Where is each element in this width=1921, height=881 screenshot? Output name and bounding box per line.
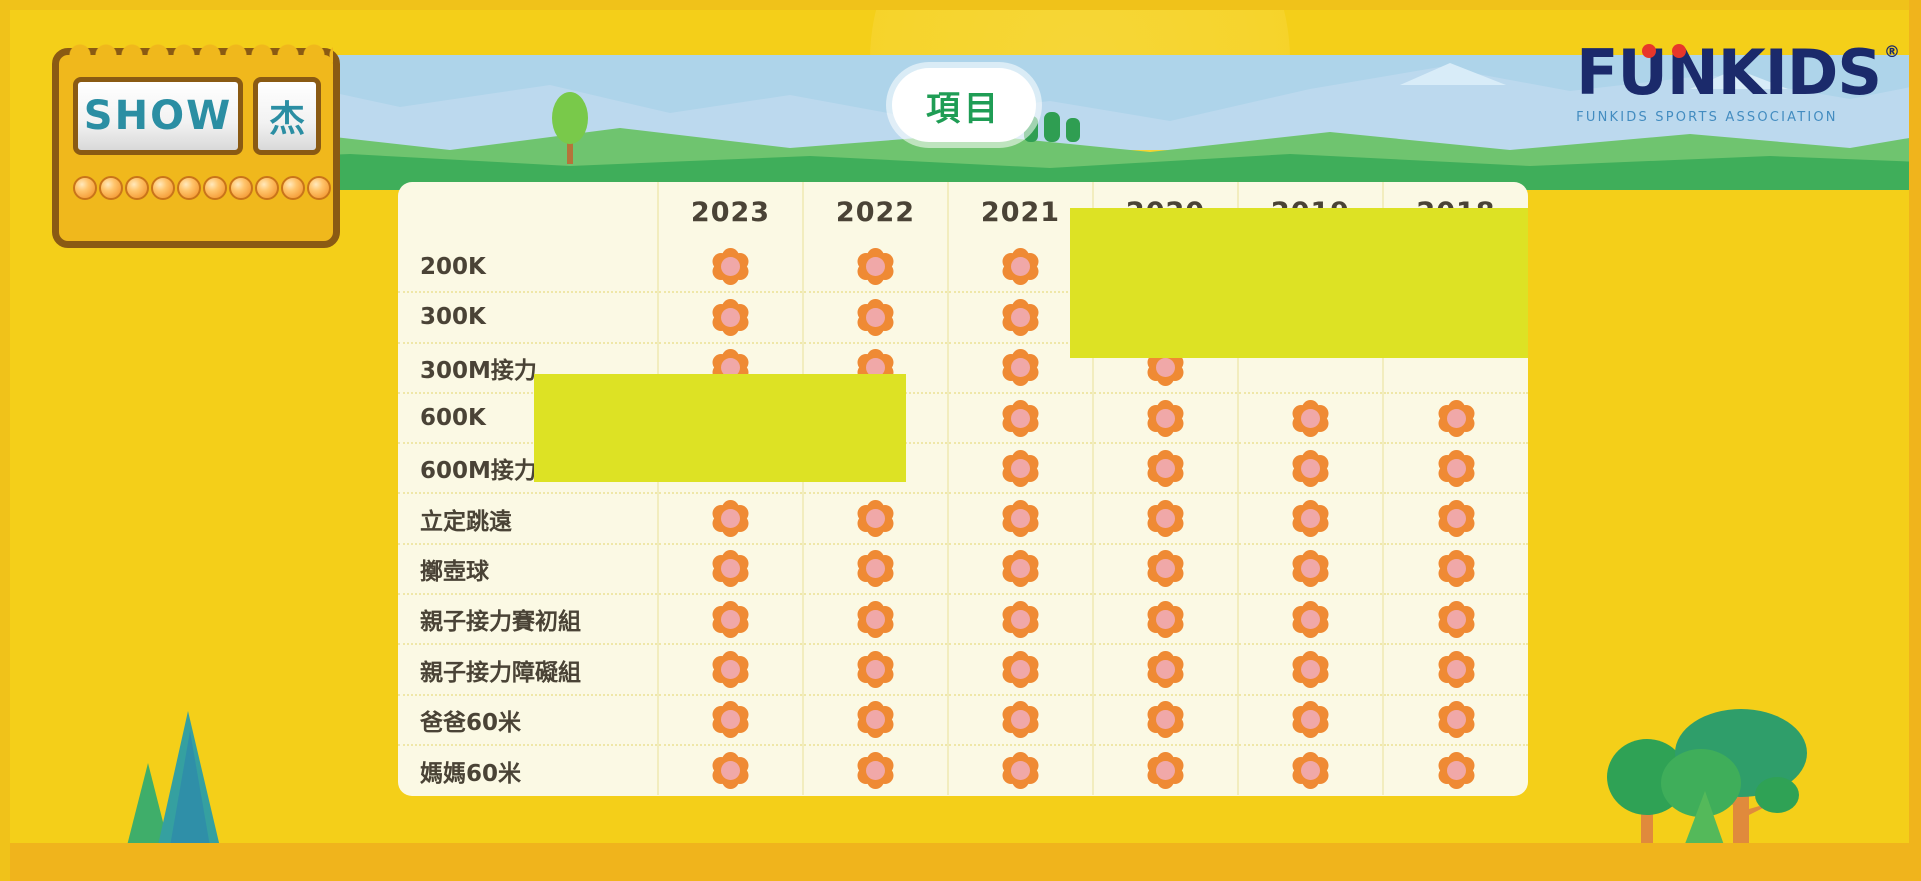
decorative-trees-icon: [1581, 665, 1861, 865]
flower-icon: [1294, 552, 1328, 586]
poster-root: 項目 SHOW 杰 FUNKIDS ® FUNKIDS SPORT: [0, 0, 1921, 881]
flower-icon: [1439, 754, 1473, 788]
flower-icon: [1004, 451, 1038, 485]
marquee-bulb-row: [73, 173, 331, 203]
brand-logo: FUNKIDS ® FUNKIDS SPORTS ASSOCIATION: [1576, 42, 1881, 125]
matrix-cell-2021: [948, 695, 1093, 745]
flower-icon: [1439, 502, 1473, 536]
matrix-cell-2021: [948, 544, 1093, 594]
flower-icon: [859, 754, 893, 788]
matrix-cell-2020: [1093, 695, 1238, 745]
bulb-icon: [125, 176, 149, 200]
flower-icon: [714, 602, 748, 636]
flower-icon: [1294, 602, 1328, 636]
flower-icon: [859, 703, 893, 737]
flower-icon: [1149, 703, 1183, 737]
flower-icon: [1004, 754, 1038, 788]
table-corner-cell: [398, 182, 658, 242]
small-tree-icon: [548, 90, 592, 164]
flower-icon: [859, 300, 893, 334]
matrix-cell-2018: [1383, 443, 1528, 493]
flower-icon: [1294, 653, 1328, 687]
table-row: 親子接力賽初組: [398, 594, 1528, 644]
matrix-cell-2022: [803, 594, 948, 644]
flower-icon: [1004, 653, 1038, 687]
table-row: 擲壺球: [398, 544, 1528, 594]
flower-icon: [1149, 451, 1183, 485]
matrix-cell-2020: [1093, 594, 1238, 644]
matrix-cell-2023: [658, 745, 803, 795]
table-row: 立定跳遠: [398, 493, 1528, 543]
flower-icon: [1294, 401, 1328, 435]
row-label: 爸爸60米: [398, 695, 658, 745]
row-label: 擲壺球: [398, 544, 658, 594]
logo-registered-mark: ®: [1884, 44, 1899, 60]
matrix-cell-2019: [1238, 745, 1383, 795]
matrix-cell-2019: [1238, 695, 1383, 745]
table-row: 媽媽60米: [398, 745, 1528, 795]
matrix-cell-2022: [803, 644, 948, 694]
bulb-icon: [281, 176, 305, 200]
marquee-show-plaque: SHOW: [73, 77, 243, 155]
matrix-cell-2021: [948, 745, 1093, 795]
logo-wordmark-wrap: FUNKIDS ®: [1576, 42, 1881, 104]
flower-icon: [859, 602, 893, 636]
flower-icon: [1294, 754, 1328, 788]
bulb-icon: [73, 176, 97, 200]
matrix-cell-2020: [1093, 443, 1238, 493]
matrix-cell-2020: [1093, 644, 1238, 694]
bulb-icon: [229, 176, 253, 200]
flower-icon: [859, 653, 893, 687]
matrix-cell-2020: [1093, 493, 1238, 543]
column-header-2023: 2023: [658, 182, 803, 242]
events-table-card: 2023 2022 2021 2020 2019 2018 200K300K30…: [398, 182, 1528, 796]
table-row: 親子接力障礙組: [398, 644, 1528, 694]
matrix-cell-2022: [803, 292, 948, 342]
flower-icon: [859, 250, 893, 284]
matrix-cell-2023: [658, 242, 803, 292]
flower-icon: [1004, 602, 1038, 636]
marquee-scallop-trim: [67, 44, 333, 66]
matrix-cell-2018: [1383, 393, 1528, 443]
flower-icon: [1149, 754, 1183, 788]
flower-icon: [1004, 250, 1038, 284]
flower-icon: [1149, 653, 1183, 687]
table-row: 爸爸60米: [398, 695, 1528, 745]
matrix-cell-2023: [658, 594, 803, 644]
flower-icon: [1149, 502, 1183, 536]
matrix-cell-2023: [658, 493, 803, 543]
flower-icon: [714, 552, 748, 586]
matrix-cell-2018: [1383, 644, 1528, 694]
frame-edge-bottom: [0, 843, 1921, 881]
flower-icon: [714, 300, 748, 334]
masked-region-2023-2022-600: [534, 374, 906, 482]
matrix-cell-2019: [1238, 393, 1383, 443]
show-marquee-badge: SHOW 杰: [52, 48, 340, 248]
matrix-cell-2019: [1238, 493, 1383, 543]
matrix-cell-2022: [803, 695, 948, 745]
matrix-cell-2023: [658, 695, 803, 745]
matrix-cell-2021: [948, 393, 1093, 443]
bulb-icon: [99, 176, 123, 200]
flower-icon: [859, 502, 893, 536]
flower-icon: [1149, 401, 1183, 435]
flower-icon: [714, 653, 748, 687]
column-header-2022: 2022: [803, 182, 948, 242]
matrix-cell-2022: [803, 544, 948, 594]
matrix-cell-2023: [658, 644, 803, 694]
flower-icon: [1439, 401, 1473, 435]
matrix-cell-2021: [948, 493, 1093, 543]
flower-icon: [1439, 653, 1473, 687]
row-label: 親子接力賽初組: [398, 594, 658, 644]
row-label: 200K: [398, 242, 658, 292]
flower-icon: [714, 250, 748, 284]
flower-icon: [1294, 451, 1328, 485]
bulb-icon: [177, 176, 201, 200]
flower-icon: [1439, 602, 1473, 636]
flower-icon: [1149, 602, 1183, 636]
matrix-cell-2022: [803, 493, 948, 543]
matrix-cell-2019: [1238, 594, 1383, 644]
frame-edge-left: [0, 0, 10, 881]
matrix-cell-2020: [1093, 393, 1238, 443]
frame-edge-right: [1909, 0, 1921, 881]
marquee-char-plaque: 杰: [253, 77, 321, 155]
matrix-cell-2023: [658, 544, 803, 594]
frame-edge-top: [0, 0, 1921, 10]
flower-icon: [1149, 552, 1183, 586]
flower-icon: [1439, 552, 1473, 586]
flower-icon: [1004, 703, 1038, 737]
flower-icon: [714, 703, 748, 737]
flower-icon: [1439, 703, 1473, 737]
matrix-cell-2021: [948, 644, 1093, 694]
section-title-badge: 項目: [892, 68, 1036, 142]
matrix-cell-2018: [1383, 695, 1528, 745]
flower-icon: [1294, 703, 1328, 737]
flower-icon: [714, 754, 748, 788]
flower-icon: [1004, 502, 1038, 536]
logo-wordmark: FUNKIDS: [1576, 36, 1881, 109]
matrix-cell-2020: [1093, 544, 1238, 594]
matrix-cell-2020: [1093, 745, 1238, 795]
row-label: 媽媽60米: [398, 745, 658, 795]
matrix-cell-2018: [1383, 493, 1528, 543]
flower-icon: [1004, 300, 1038, 334]
matrix-cell-2018: [1383, 745, 1528, 795]
section-title-text: 項目: [926, 81, 1002, 130]
bulb-icon: [255, 176, 279, 200]
masked-region-2018-300k: [1282, 266, 1528, 308]
matrix-cell-2019: [1238, 544, 1383, 594]
row-label: 親子接力障礙組: [398, 644, 658, 694]
matrix-cell-2018: [1383, 594, 1528, 644]
matrix-cell-2019: [1238, 443, 1383, 493]
row-label: 300K: [398, 292, 658, 342]
flower-icon: [1439, 451, 1473, 485]
matrix-cell-2019: [1238, 644, 1383, 694]
flower-icon: [1004, 552, 1038, 586]
matrix-cell-2023: [658, 292, 803, 342]
matrix-cell-2022: [803, 242, 948, 292]
row-label: 立定跳遠: [398, 493, 658, 543]
marquee-plaques: SHOW 杰: [73, 77, 321, 155]
flower-icon: [1294, 502, 1328, 536]
logo-subtitle: FUNKIDS SPORTS ASSOCIATION: [1576, 110, 1881, 125]
matrix-cell-2021: [948, 443, 1093, 493]
bulb-icon: [307, 176, 331, 200]
matrix-cell-2021: [948, 594, 1093, 644]
bulb-icon: [151, 176, 175, 200]
flower-icon: [714, 502, 748, 536]
bulb-icon: [203, 176, 227, 200]
flower-icon: [859, 552, 893, 586]
matrix-cell-2022: [803, 745, 948, 795]
flower-icon: [1004, 351, 1038, 385]
matrix-cell-2018: [1383, 544, 1528, 594]
flower-icon: [1004, 401, 1038, 435]
